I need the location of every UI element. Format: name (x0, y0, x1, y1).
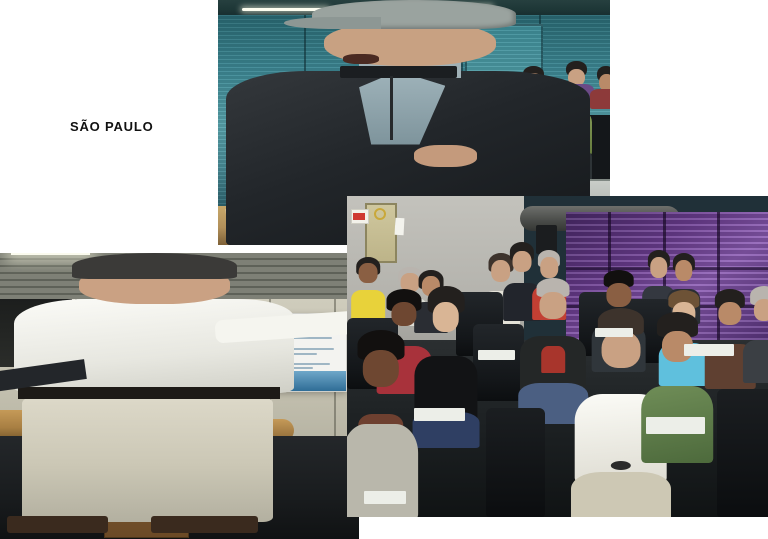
handout-paper (414, 408, 465, 421)
photo-left-presenter: DIEESE Crise Internacional (0, 253, 359, 539)
no-smoking-sign-icon (374, 208, 386, 220)
chair (473, 324, 524, 401)
photo-left-scene: DIEESE Crise Internacional (0, 253, 359, 539)
face (540, 292, 567, 319)
ceiling-light-icon (11, 253, 90, 255)
red-collar (542, 346, 566, 373)
audience-member (743, 299, 768, 402)
handout-paper (595, 328, 633, 338)
photo-right-scene (347, 196, 768, 517)
handout-paper (478, 350, 516, 360)
face (718, 302, 741, 325)
belt (18, 387, 280, 398)
face (362, 350, 398, 387)
fire-extinguisher-sign-icon (351, 209, 369, 224)
shoe (151, 516, 259, 533)
face (606, 283, 631, 307)
audience-member (590, 66, 610, 108)
trousers (22, 396, 273, 522)
handout-paper (646, 417, 705, 433)
jacket (743, 340, 768, 383)
page-title: SÃO PAULO (70, 119, 154, 134)
face (540, 257, 558, 278)
face (391, 302, 416, 326)
mouth (343, 54, 378, 64)
face (754, 299, 768, 322)
handout-paper (364, 491, 406, 504)
microphone-icon (340, 66, 458, 78)
notice-paper (394, 217, 404, 234)
flat-cap (312, 0, 516, 29)
shoe (7, 516, 108, 533)
white-margin-bottom-right (372, 517, 768, 539)
torso (590, 89, 610, 110)
collage-page: SÃO PAULO (0, 0, 768, 539)
microphone-stand (390, 76, 393, 140)
face (650, 257, 668, 278)
chair (717, 389, 768, 517)
face (359, 263, 378, 283)
photo-right-audience (347, 196, 768, 517)
handout-paper (684, 344, 735, 357)
face (433, 302, 460, 332)
face (675, 260, 693, 281)
hand (414, 145, 477, 167)
chair (486, 408, 545, 517)
hair (72, 253, 237, 279)
face (512, 251, 531, 273)
